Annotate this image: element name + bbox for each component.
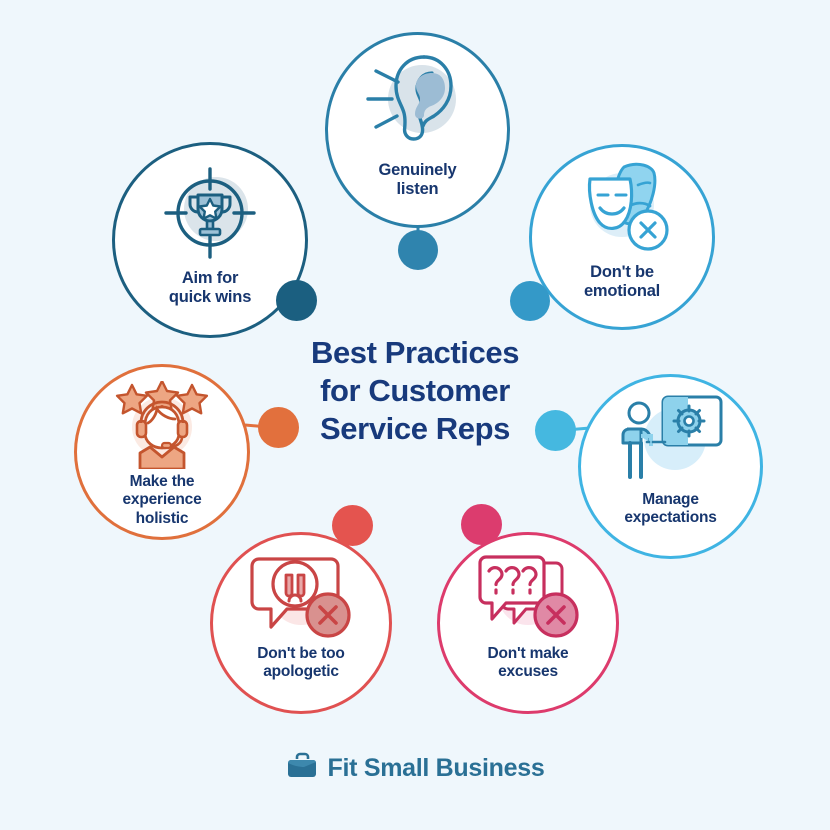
bubble-dont-make-excuses[interactable]: Don't make excuses xyxy=(437,532,619,714)
connector-dot-apologetic xyxy=(332,505,373,546)
ear-listening-icon xyxy=(362,49,474,153)
connector-dot-emotional xyxy=(510,281,550,321)
bubble-genuinely-listen[interactable]: Genuinely listen xyxy=(325,32,510,228)
connector-dot-listen xyxy=(398,230,438,270)
crying-face-bubble-blocked-icon xyxy=(247,549,355,643)
connector-dot-excuses xyxy=(461,504,502,545)
infographic-canvas: Aim for quick wins Genuinely listen xyxy=(0,0,830,830)
bubble-dont-be-too-apologetic[interactable]: Don't be too apologetic xyxy=(210,532,392,714)
bubble-manage-expectations[interactable]: Manage expectations xyxy=(578,374,763,559)
footer-logo: Fit Small Business xyxy=(0,752,830,785)
connector-dot-quick-wins xyxy=(276,280,317,321)
bubble-make-experience-holistic[interactable]: Make the experience holistic xyxy=(74,364,250,540)
briefcase-icon xyxy=(286,752,318,785)
page-title: Best Practices for Customer Service Reps xyxy=(255,334,575,448)
bubble-label: Make the experience holistic xyxy=(123,473,202,528)
bubble-label: Aim for quick wins xyxy=(169,269,251,308)
bubble-label: Don't be too apologetic xyxy=(257,645,344,682)
theater-masks-blocked-icon xyxy=(566,161,678,257)
bubble-label: Genuinely listen xyxy=(379,161,457,200)
bubble-label: Don't be emotional xyxy=(584,263,660,302)
brand-name: Fit Small Business xyxy=(328,754,545,783)
target-trophy-icon xyxy=(158,161,262,265)
headset-agent-stars-icon xyxy=(110,381,214,469)
bubble-dont-be-emotional[interactable]: Don't be emotional xyxy=(529,144,715,330)
bubble-label: Don't make excuses xyxy=(488,645,569,682)
presenter-gear-board-icon xyxy=(617,391,725,487)
bubble-label: Manage expectations xyxy=(624,491,716,528)
question-bubbles-blocked-icon xyxy=(474,549,582,643)
